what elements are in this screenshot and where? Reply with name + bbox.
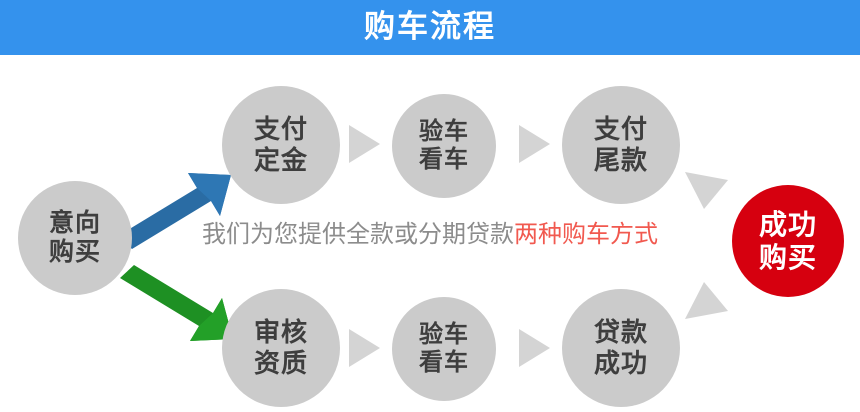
node-deposit-line1: 支付 [254, 114, 308, 145]
middle-note: 我们为您提供全款或分期贷款两种购车方式 [0, 220, 860, 250]
header-banner: 购车流程 [0, 0, 860, 55]
connector-arrow-bottom-1-icon [349, 329, 380, 367]
connector-arrow-top-1-icon [349, 125, 380, 163]
node-inspect-bottom-line2: 看车 [419, 349, 469, 377]
middle-note-gray-text: 我们为您提供全款或分期贷款 [202, 221, 514, 248]
connector-arrow-merge-top-icon [685, 172, 728, 209]
flow-diagram: 全款购车 分期购车 意向 购买 支付 定金 验车 看车 支付 尾款 审核 资质 … [0, 55, 860, 412]
connector-arrow-top-2-icon [519, 125, 550, 163]
node-balance-payment-line2: 尾款 [594, 145, 648, 176]
node-inspect-top[interactable]: 验车 看车 [392, 94, 496, 198]
node-inspect-top-line1: 验车 [419, 118, 469, 146]
node-loan-approved-line2: 成功 [594, 348, 648, 379]
node-balance-payment-line1: 支付 [594, 114, 648, 145]
connector-arrow-bottom-2-icon [519, 329, 550, 367]
node-loan-approved[interactable]: 贷款 成功 [562, 289, 680, 407]
node-inspect-bottom-line1: 验车 [419, 321, 469, 349]
node-review-qualification-line2: 资质 [254, 348, 308, 379]
node-review-qualification-line1: 审核 [254, 317, 308, 348]
page-title: 购车流程 [0, 0, 860, 55]
purchase-flow-infographic: 购车流程 全款购车 分期购车 [0, 0, 860, 412]
node-review-qualification[interactable]: 审核 资质 [222, 289, 340, 407]
middle-note-red-text: 两种购车方式 [514, 221, 658, 248]
node-inspect-top-line2: 看车 [419, 146, 469, 174]
branch-arrow-installment-icon [120, 265, 233, 341]
node-balance-payment[interactable]: 支付 尾款 [562, 86, 680, 204]
connector-arrow-merge-bottom-icon [685, 282, 728, 319]
node-loan-approved-line1: 贷款 [594, 317, 648, 348]
node-deposit[interactable]: 支付 定金 [222, 86, 340, 204]
node-deposit-line2: 定金 [254, 145, 308, 176]
node-inspect-bottom[interactable]: 验车 看车 [392, 297, 496, 401]
